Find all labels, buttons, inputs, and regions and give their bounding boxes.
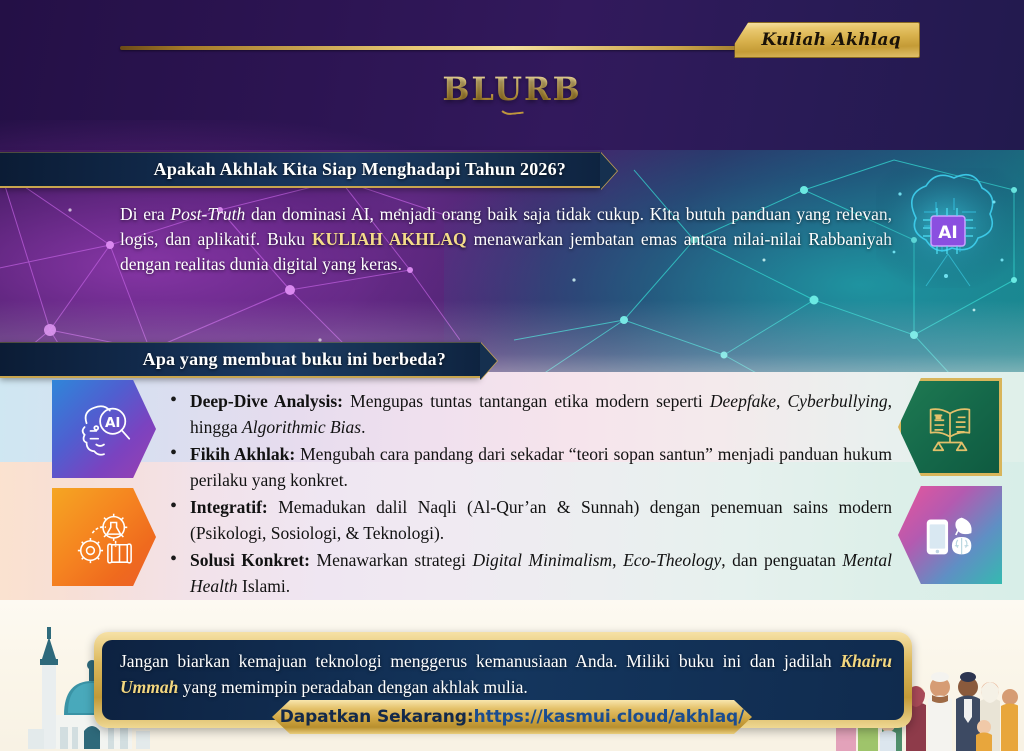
features-list: Deep-Dive Analysis: Mengupas tuntas tant… (168, 388, 892, 600)
bullet-text-2: , (612, 550, 623, 570)
ai-face-magnifier-icon: AI (73, 398, 135, 460)
section-header-ribbon-1: Apakah Akhlak Kita Siap Menghadapi Tahun… (0, 152, 600, 188)
bullet-italic-3: Algorithmic Bias (242, 417, 361, 437)
bullet-italic-1: Digital Minimalism (472, 550, 612, 570)
cta-button-url: https://kasmui.cloud/akhlaq/ (474, 707, 745, 727)
cta-text-1: Jangan biarkan kemajuan teknologi mengge… (120, 651, 840, 671)
list-item: Integratif: Memadukan dalil Naqli (Al-Qu… (168, 494, 892, 546)
cta-text: Jangan biarkan kemajuan teknologi mengge… (120, 648, 892, 700)
intro-paragraph: Di era Post-Truth dan dominasi AI, menja… (120, 202, 892, 277)
intro-book-title: KULIAH AKHLAQ (312, 229, 467, 249)
section-header-ribbon-2: Apa yang membuat buku ini berbeda? (0, 342, 480, 378)
section-1-title: Apakah Akhlak Kita Siap Menghadapi Tahun… (154, 159, 566, 180)
bullet-text-1: Mengupas tuntas tantangan etika modern s… (343, 391, 710, 411)
section-2-title: Apa yang membuat buku ini berbeda? (143, 349, 446, 370)
bullet-text-1: Memadukan dalil Naqli (Al-Qur’an & Sunna… (190, 497, 892, 543)
bullet-text-2: , (776, 391, 788, 411)
gold-divider-rule (120, 46, 776, 50)
get-now-button[interactable]: Dapatkan Sekarang: https://kasmui.cloud/… (272, 700, 752, 734)
bullet-text-4: . (361, 417, 365, 437)
bullet-title: Deep-Dive Analysis: (190, 391, 343, 411)
gears-flask-book-icon (73, 506, 135, 568)
bullet-italic-1: Deepfake (710, 391, 776, 411)
bullet-text-3: , dan penguatan (721, 550, 842, 570)
bullet-title: Integratif: (190, 497, 268, 517)
bullet-text-4: Islami. (238, 576, 291, 596)
blurb-page: Kuliah Akhlaq BLURB Apakah Akhlak Kita S… (0, 0, 1024, 751)
phone-leaf-brain-icon (919, 504, 981, 566)
list-item: Solusi Konkret: Menawarkan strategi Digi… (168, 547, 892, 599)
intro-italic-1: Post-Truth (170, 204, 245, 224)
cta-button-label: Dapatkan Sekarang: (280, 707, 474, 727)
bullet-title: Solusi Konkret: (190, 550, 310, 570)
bullet-italic-2: Eco-Theology (623, 550, 721, 570)
list-item: Deep-Dive Analysis: Mengupas tuntas tant… (168, 388, 892, 440)
brand-tab-label: Kuliah Akhlaq (761, 30, 901, 50)
bullet-text-1: Menawarkan strategi (310, 550, 472, 570)
intro-part-1: Di era (120, 204, 170, 224)
list-item: Fikih Akhlak: Mengubah cara pandang dari… (168, 441, 892, 493)
brand-tab[interactable]: Kuliah Akhlaq (734, 22, 920, 58)
ai-brain-chip-icon: AI (876, 168, 1016, 288)
bullet-text-1: Mengubah cara pandang dari sekadar “teor… (190, 444, 892, 490)
svg-text:AI: AI (105, 415, 121, 431)
ai-chip-label: AI (938, 223, 957, 243)
bullet-italic-2: Cyberbullying (788, 391, 888, 411)
cta-text-2: yang memimpin peradaban dengan akhlak mu… (178, 677, 527, 697)
book-scales-icon (919, 396, 981, 458)
bullet-title: Fikih Akhlak: (190, 444, 295, 464)
